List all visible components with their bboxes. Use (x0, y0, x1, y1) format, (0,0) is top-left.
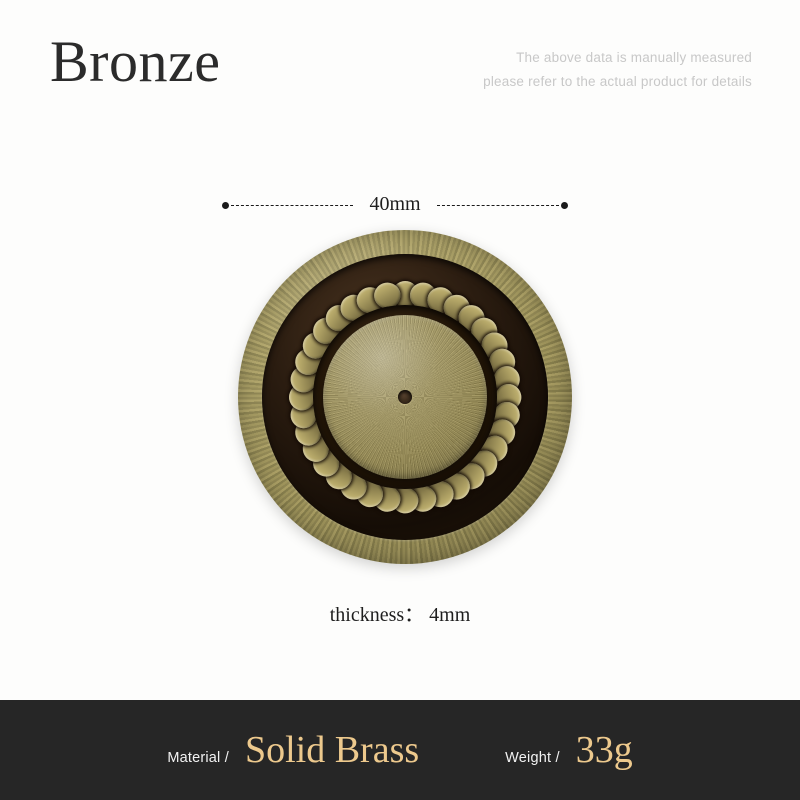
spec-material-key: Material / (167, 750, 229, 766)
thickness-label: thickness： 4mm (0, 598, 800, 627)
dimension-endpoint-left-dot (222, 202, 229, 209)
dimension-value-label: 40mm (355, 193, 434, 216)
product-image (238, 230, 572, 564)
disclaimer-line-2: please refer to the actual product for d… (483, 70, 752, 94)
disclaimer-line-1: The above data is manually measured (483, 46, 752, 70)
spec-weight-value: 33g (576, 731, 633, 769)
knob-center-screw-hole (398, 390, 412, 404)
spec-material: Material / Solid Brass (167, 731, 419, 769)
product-header: Bronze The above data is manually measur… (0, 0, 800, 140)
spec-material-value: Solid Brass (245, 731, 419, 769)
spec-weight: Weight / 33g (505, 731, 633, 769)
brass-knob (238, 230, 572, 564)
knob-center-disc (323, 315, 487, 479)
page-title: Bronze (50, 30, 221, 94)
spec-bar: Material / Solid Brass Weight / 33g (0, 700, 800, 800)
disclaimer-note: The above data is manually measured plea… (483, 46, 752, 93)
dimension-endpoint-right-dot (561, 202, 568, 209)
diameter-dimension-line: 40mm (222, 190, 568, 220)
dimension-dashed-line-right (437, 205, 559, 206)
dimension-dashed-line-left (231, 205, 353, 206)
spec-weight-key: Weight / (505, 750, 560, 766)
